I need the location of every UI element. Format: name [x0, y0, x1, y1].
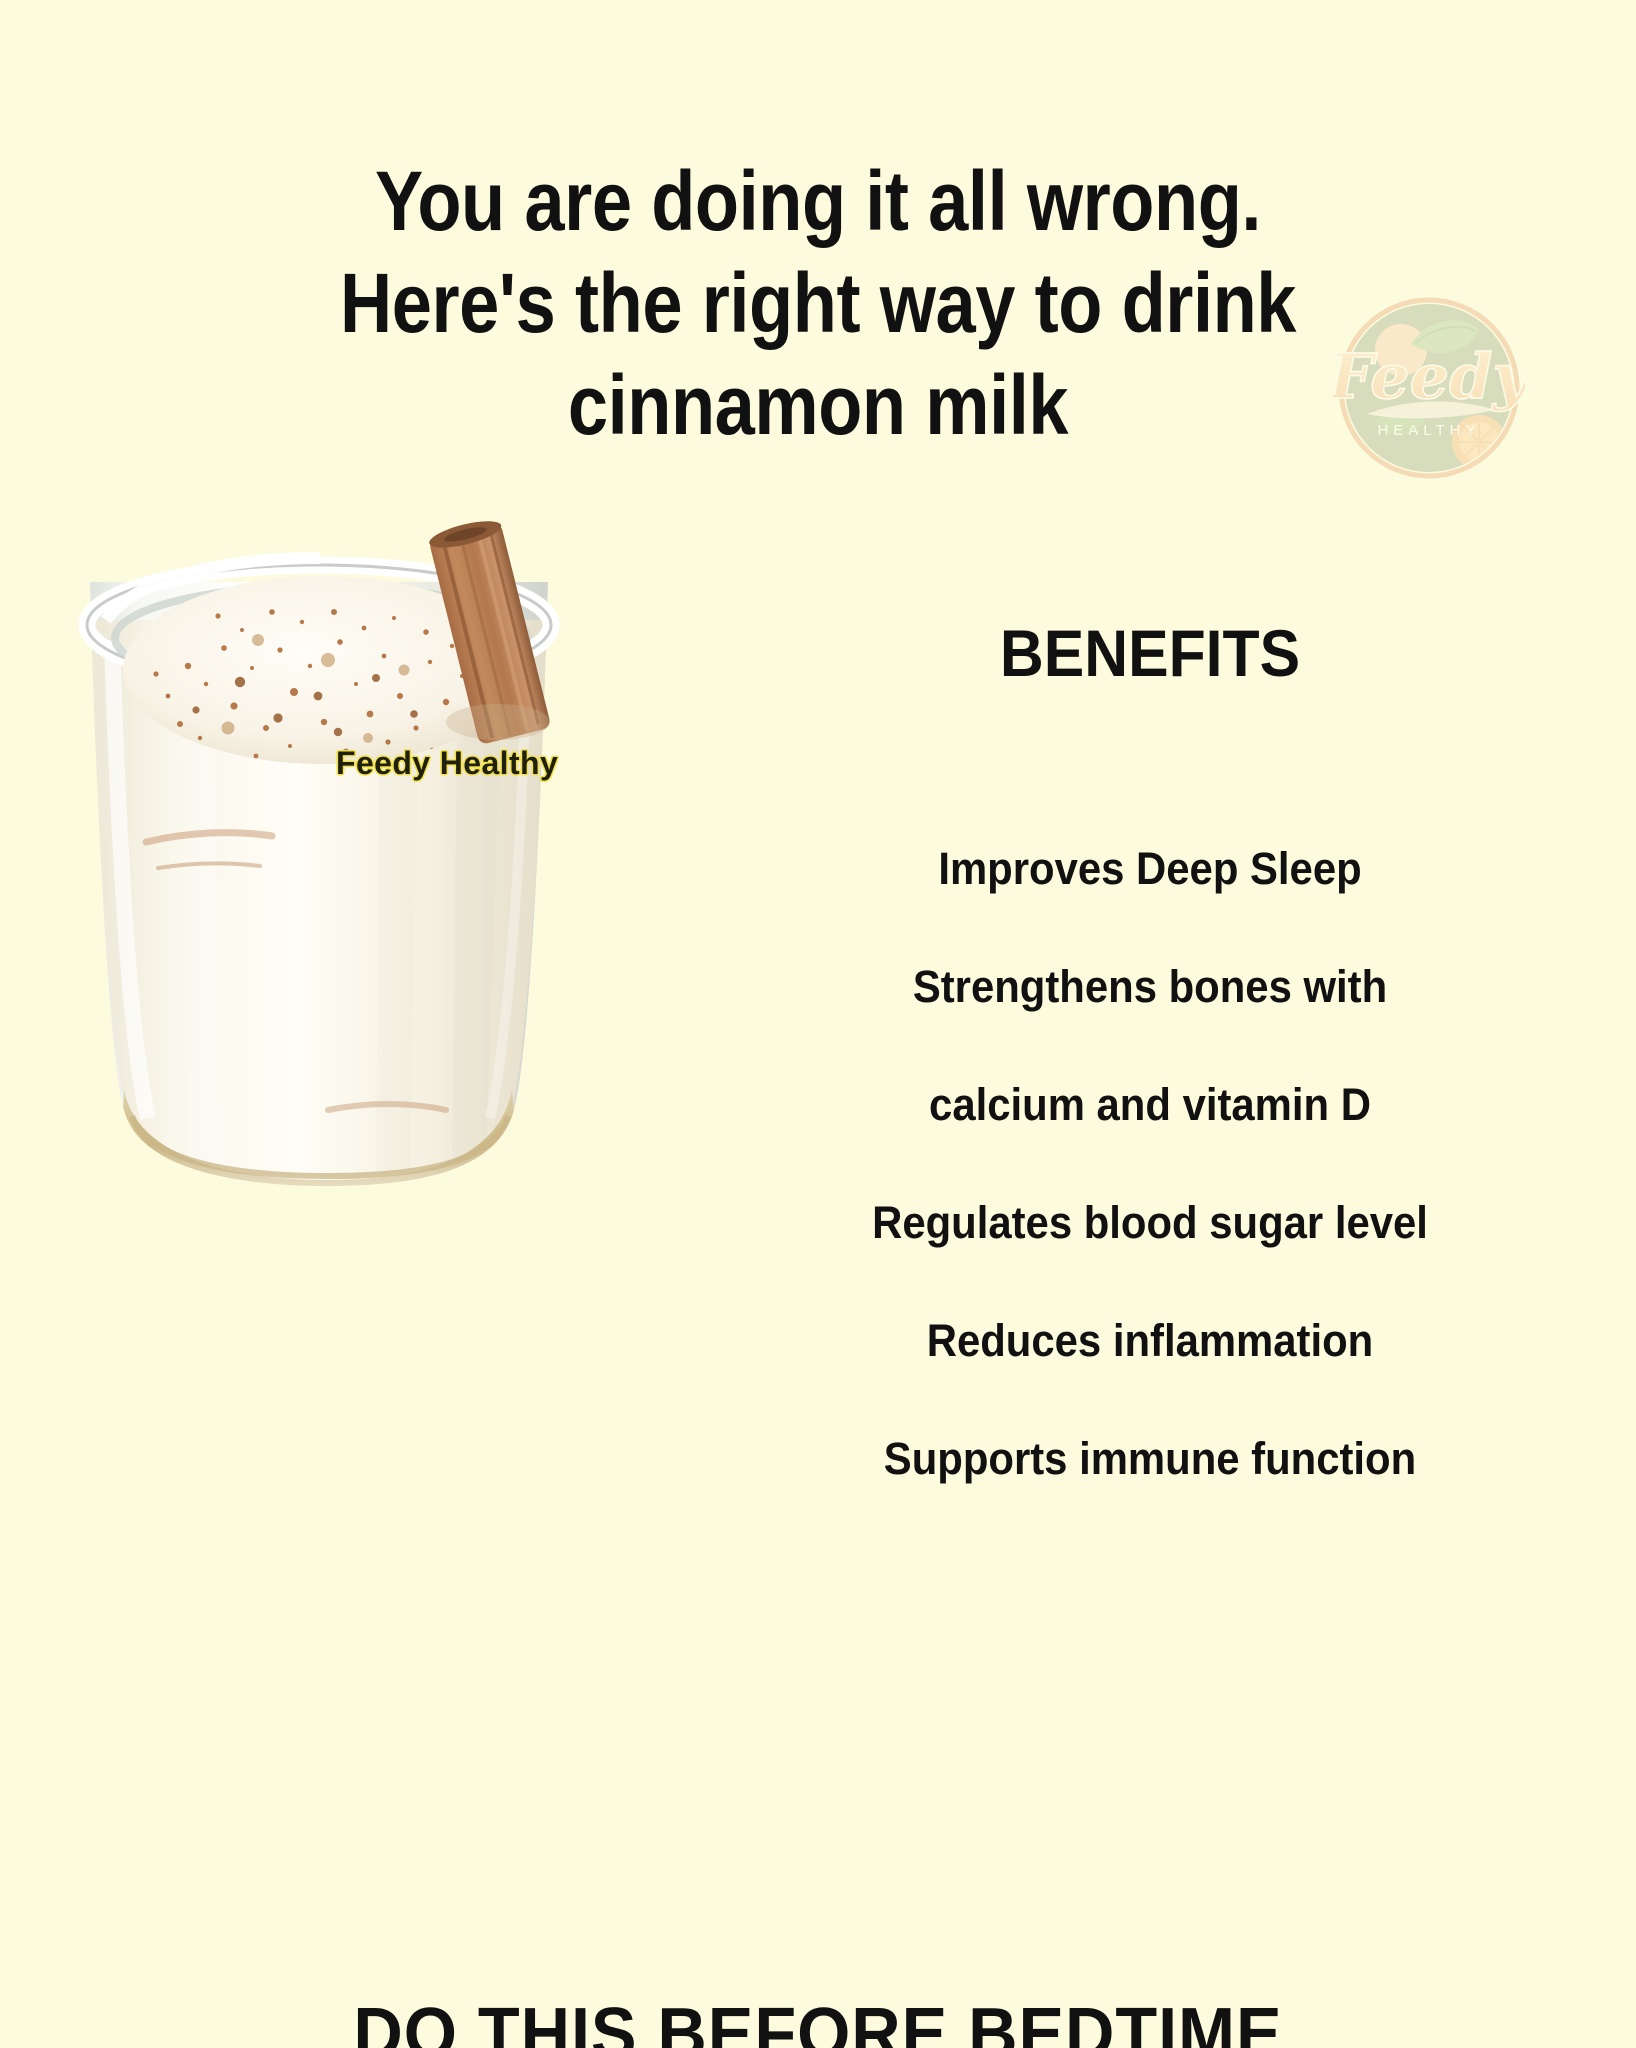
benefit-item: Strengthens bones with: [797, 928, 1504, 1046]
page-title: You are doing it all wrong. Here's the r…: [115, 150, 1522, 456]
headline-line-3: cinnamon milk: [115, 354, 1522, 456]
stick-shadow: [446, 704, 550, 740]
benefit-item: Supports immune function: [797, 1400, 1504, 1518]
benefit-item: calcium and vitamin D: [797, 1046, 1504, 1164]
photo-watermark: Feedy Healthy: [336, 745, 558, 782]
benefits-heading: BENEFITS: [800, 615, 1499, 691]
benefit-item: Regulates blood sugar level: [797, 1164, 1504, 1282]
headline-line-1: You are doing it all wrong.: [115, 150, 1522, 252]
benefit-item: Improves Deep Sleep: [797, 810, 1504, 928]
product-photo: [28, 470, 648, 1230]
benefits-list: Improves Deep Sleep Strengthens bones wi…: [797, 810, 1504, 1518]
benefit-item: Reduces inflammation: [797, 1282, 1504, 1400]
headline-line-2: Here's the right way to drink: [115, 252, 1522, 354]
poster-canvas: You are doing it all wrong. Here's the r…: [0, 0, 1636, 2048]
cta-text: DO THIS BEFORE BEDTIME: [41, 1995, 1595, 2048]
